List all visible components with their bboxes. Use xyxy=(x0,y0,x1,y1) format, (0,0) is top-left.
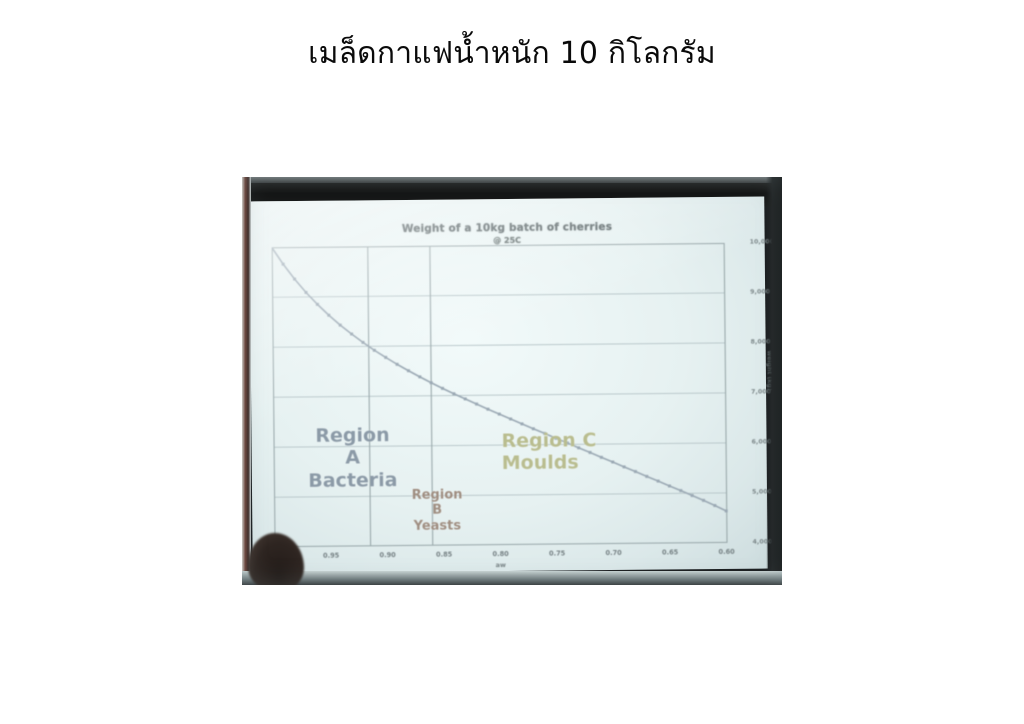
plot-svg xyxy=(272,243,745,547)
gridlines xyxy=(272,243,727,547)
data-point-marker xyxy=(486,408,489,411)
data-point-marker xyxy=(350,332,353,335)
x-tick-label: 0.85 xyxy=(436,551,452,559)
ceiling-highlight xyxy=(242,177,782,183)
photo-bottom-shadow xyxy=(242,571,782,585)
data-point-marker xyxy=(384,356,387,359)
x-tick-label: 0.80 xyxy=(492,550,508,558)
data-point-marker xyxy=(452,392,455,395)
chart: Weight of a 10kg batch of cherries @ 25C… xyxy=(249,197,768,574)
x-axis-title: aw xyxy=(496,561,506,569)
x-tick-label: 0.75 xyxy=(549,549,565,557)
x-tick-label: 0.90 xyxy=(379,551,395,559)
data-point-marker xyxy=(339,324,342,327)
data-point-marker xyxy=(304,291,307,294)
data-point-marker xyxy=(464,397,467,400)
data-point-marker xyxy=(498,413,501,416)
plot-area: Region A Bacteria Region B Yeasts Region… xyxy=(272,243,745,547)
data-point-marker xyxy=(430,381,433,384)
page-title: เมล็ดกาแฟน้ำหนัก 10 กิโลกรัม xyxy=(0,30,1024,77)
data-point-marker xyxy=(691,494,694,497)
annotation-region-c: Region C Moulds xyxy=(501,429,651,475)
data-point-marker xyxy=(645,475,648,478)
gridline xyxy=(274,493,726,497)
data-point-marker xyxy=(361,341,364,344)
gridline xyxy=(273,393,725,397)
data-point-marker xyxy=(316,303,319,306)
data-point-marker xyxy=(679,489,682,492)
wall-left-edge xyxy=(242,177,251,585)
data-point-marker xyxy=(520,422,523,425)
data-point-marker xyxy=(418,375,421,378)
data-point-marker xyxy=(668,484,671,487)
data-point-marker xyxy=(725,509,728,512)
data-point-marker xyxy=(702,499,705,502)
slide-photograph: Weight of a 10kg batch of cherries @ 25C… xyxy=(242,177,782,585)
data-point-marker xyxy=(441,387,444,390)
x-tick-label: 0.70 xyxy=(605,549,621,557)
x-tick-label: 0.60 xyxy=(718,548,734,556)
annotation-region-b: Region B Yeasts xyxy=(406,487,468,534)
data-point-marker xyxy=(657,480,660,483)
data-point-marker xyxy=(282,263,285,266)
data-point-marker xyxy=(373,349,376,352)
x-tick-label: 0.65 xyxy=(662,548,678,556)
screen-right-frame xyxy=(766,177,782,585)
data-point-marker xyxy=(509,417,512,420)
x-tick-label: 0.95 xyxy=(323,552,339,560)
data-point-marker xyxy=(293,278,296,281)
annotation-region-a: Region A Bacteria xyxy=(293,424,412,492)
projection-screen: Weight of a 10kg batch of cherries @ 25C… xyxy=(249,197,768,574)
gridline xyxy=(272,293,724,297)
data-point-marker xyxy=(396,363,399,366)
data-point-marker xyxy=(327,314,330,317)
data-point-marker xyxy=(713,504,716,507)
gridline xyxy=(273,343,725,347)
data-point-marker xyxy=(475,403,478,406)
data-point-marker xyxy=(407,369,410,372)
